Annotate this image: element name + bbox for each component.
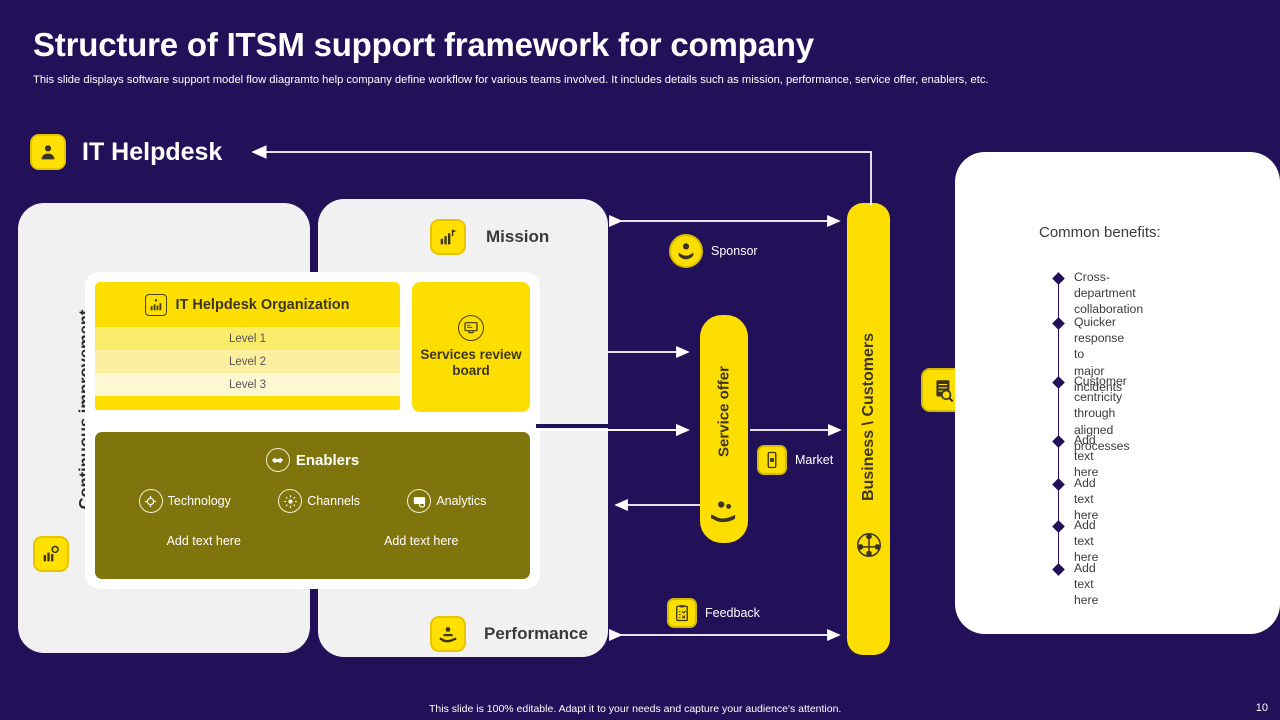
network-people-icon <box>854 530 884 565</box>
footer-note: This slide is 100% editable. Adapt it to… <box>429 703 841 715</box>
common-benefits-title: Common benefits: <box>1039 224 1161 241</box>
org-title: IT Helpdesk Organization <box>175 297 349 313</box>
page-title: Structure of ITSM support framework for … <box>33 26 814 64</box>
sponsor-label: Sponsor <box>711 244 758 258</box>
chart-search-icon <box>407 489 431 513</box>
service-offer-label: Service offer <box>716 366 733 457</box>
benefit-text: Cross- department collaboration <box>1074 269 1143 318</box>
gears-icon <box>139 489 163 513</box>
mission-label: Mission <box>486 227 549 247</box>
enabler-label: Technology <box>168 494 231 508</box>
performance-section: Performance <box>430 616 588 652</box>
org-level-row: Level 2 <box>95 350 400 373</box>
enablers-add-texts: Add text here Add text here <box>95 513 530 548</box>
it-helpdesk-label: IT Helpdesk <box>82 138 222 167</box>
slide-root: Structure of ITSM support framework for … <box>0 0 1280 720</box>
org-level-row: Level 3 <box>95 373 400 396</box>
mobile-market-icon <box>757 445 787 475</box>
helpdesk-inner-card: IT Helpdesk Organization Level 1 Level 2… <box>85 272 540 589</box>
performance-hand-icon <box>430 616 466 652</box>
feedback-label: Feedback <box>705 606 760 620</box>
monitor-icon <box>458 315 484 341</box>
enablers-card: Enablers Technology Channels <box>95 432 530 579</box>
gear-hand-icon <box>709 498 739 529</box>
page-subtitle: This slide displays software support mod… <box>33 74 989 86</box>
handshake-icon <box>266 448 290 472</box>
enablers-items: Technology Channels Analytics <box>95 472 530 513</box>
market-label: Market <box>795 453 833 467</box>
hands-heart-icon <box>669 234 703 268</box>
market-item: Market <box>757 445 833 475</box>
performance-label: Performance <box>484 624 588 644</box>
enabler-add-text[interactable]: Add text here <box>95 534 313 548</box>
enabler-item: Analytics <box>407 489 486 513</box>
enabler-label: Channels <box>307 494 360 508</box>
benefit-text: Add text here <box>1074 432 1098 481</box>
benefits-timeline: Cross- department collaboration Quicker … <box>1056 272 1271 572</box>
enabler-add-text[interactable]: Add text here <box>313 534 531 548</box>
enabler-item: Channels <box>278 489 360 513</box>
clipboard-check-icon <box>667 598 697 628</box>
sponsor-item: Sponsor <box>669 234 758 268</box>
growth-chart-gear-icon <box>33 536 69 572</box>
services-review-board-card: Services review board <box>412 282 530 412</box>
business-customers-bar: Business \ Customers <box>847 203 890 655</box>
page-number: 10 <box>1256 702 1268 714</box>
services-review-board-label: Services review board <box>412 347 530 379</box>
mission-section: Mission <box>430 219 549 255</box>
benefit-text: Add text here <box>1074 560 1098 609</box>
org-footer-bar <box>95 396 400 410</box>
enabler-item: Technology <box>139 489 231 513</box>
it-helpdesk-organization-block: IT Helpdesk Organization Level 1 Level 2… <box>95 282 400 412</box>
feedback-item: Feedback <box>667 598 760 628</box>
org-level-row: Level 1 <box>95 327 400 350</box>
enablers-title: Enablers <box>296 452 359 469</box>
org-chart-icon <box>145 294 167 316</box>
org-header: IT Helpdesk Organization <box>95 282 400 327</box>
benefit-text: Add text here <box>1074 517 1098 566</box>
mission-flag-icon <box>430 219 466 255</box>
it-helpdesk-header: IT Helpdesk <box>30 134 222 170</box>
person-icon <box>30 134 66 170</box>
business-customers-label: Business \ Customers <box>860 333 878 501</box>
enablers-title-row: Enablers <box>95 432 530 472</box>
sun-burst-icon <box>278 489 302 513</box>
service-offer-bar: Service offer <box>700 315 748 543</box>
enabler-label: Analytics <box>436 494 486 508</box>
